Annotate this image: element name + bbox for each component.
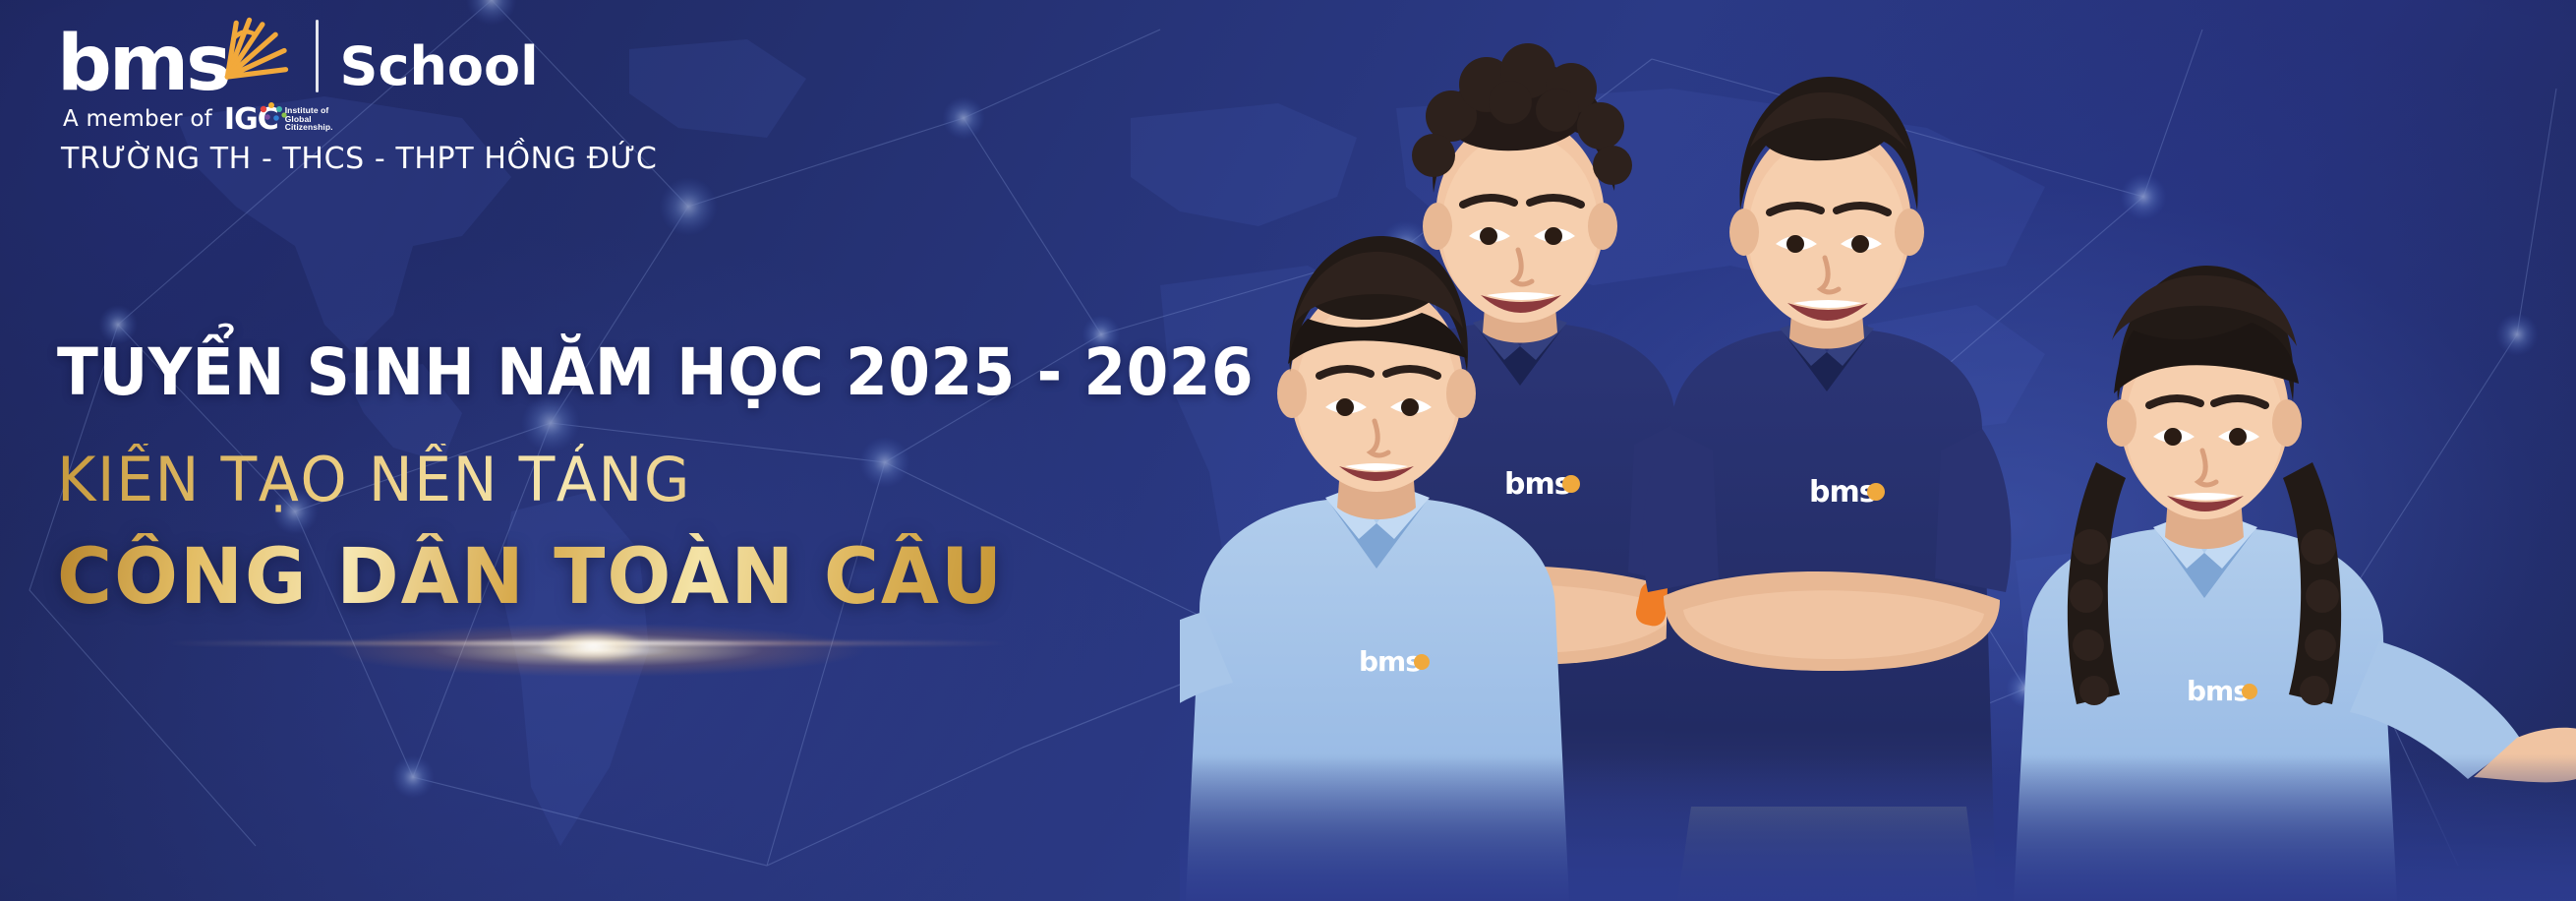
tagline-line-1: KIẾN TẠO NỀN TẢNG [57, 444, 1392, 515]
tagline-line-2-wrapper: CÔNG DÂN TOÀN CẦU [57, 533, 1040, 622]
shirt-logo-text: bms [1504, 467, 1571, 502]
lens-flare-core [519, 624, 667, 669]
shirt-logo-text: bms [1809, 475, 1876, 510]
logo-divider [316, 20, 319, 92]
bms-logo-mark: bms [57, 10, 290, 100]
igc-tagline-line-3: Citizenship. [285, 123, 333, 132]
shirt-logo-text: bms [1359, 645, 1421, 678]
shirt-logo-text: bms [2187, 675, 2249, 707]
headline-admissions-year: TUYỂN SINH NĂM HỌC 2025 - 2026 [57, 334, 1337, 410]
school-wordmark: School [340, 35, 539, 97]
lens-flare-glow [254, 616, 942, 685]
tagline-line-2: CÔNG DÂN TOÀN CẦU [57, 533, 1021, 622]
member-of-label: A member of [63, 106, 212, 132]
bms-wordmark: bms [57, 30, 229, 100]
igc-lockup: IGC Institute of Global Citizenship. [224, 102, 333, 137]
headline-block: TUYỂN SINH NĂM HỌC 2025 - 2026 KIẾN TẠO … [57, 334, 1434, 622]
admissions-banner: bms [0, 0, 2576, 901]
sunburst-fan-icon [217, 10, 290, 83]
igc-tagline: Institute of Global Citizenship. [285, 106, 333, 132]
school-full-name: TRƯỜNG TH - THCS - THPT HỒNG ĐỨC [61, 142, 804, 176]
brand-logo-block[interactable]: bms [57, 10, 804, 176]
logo-row: bms [57, 10, 804, 100]
lens-flare-streak [165, 641, 1011, 645]
